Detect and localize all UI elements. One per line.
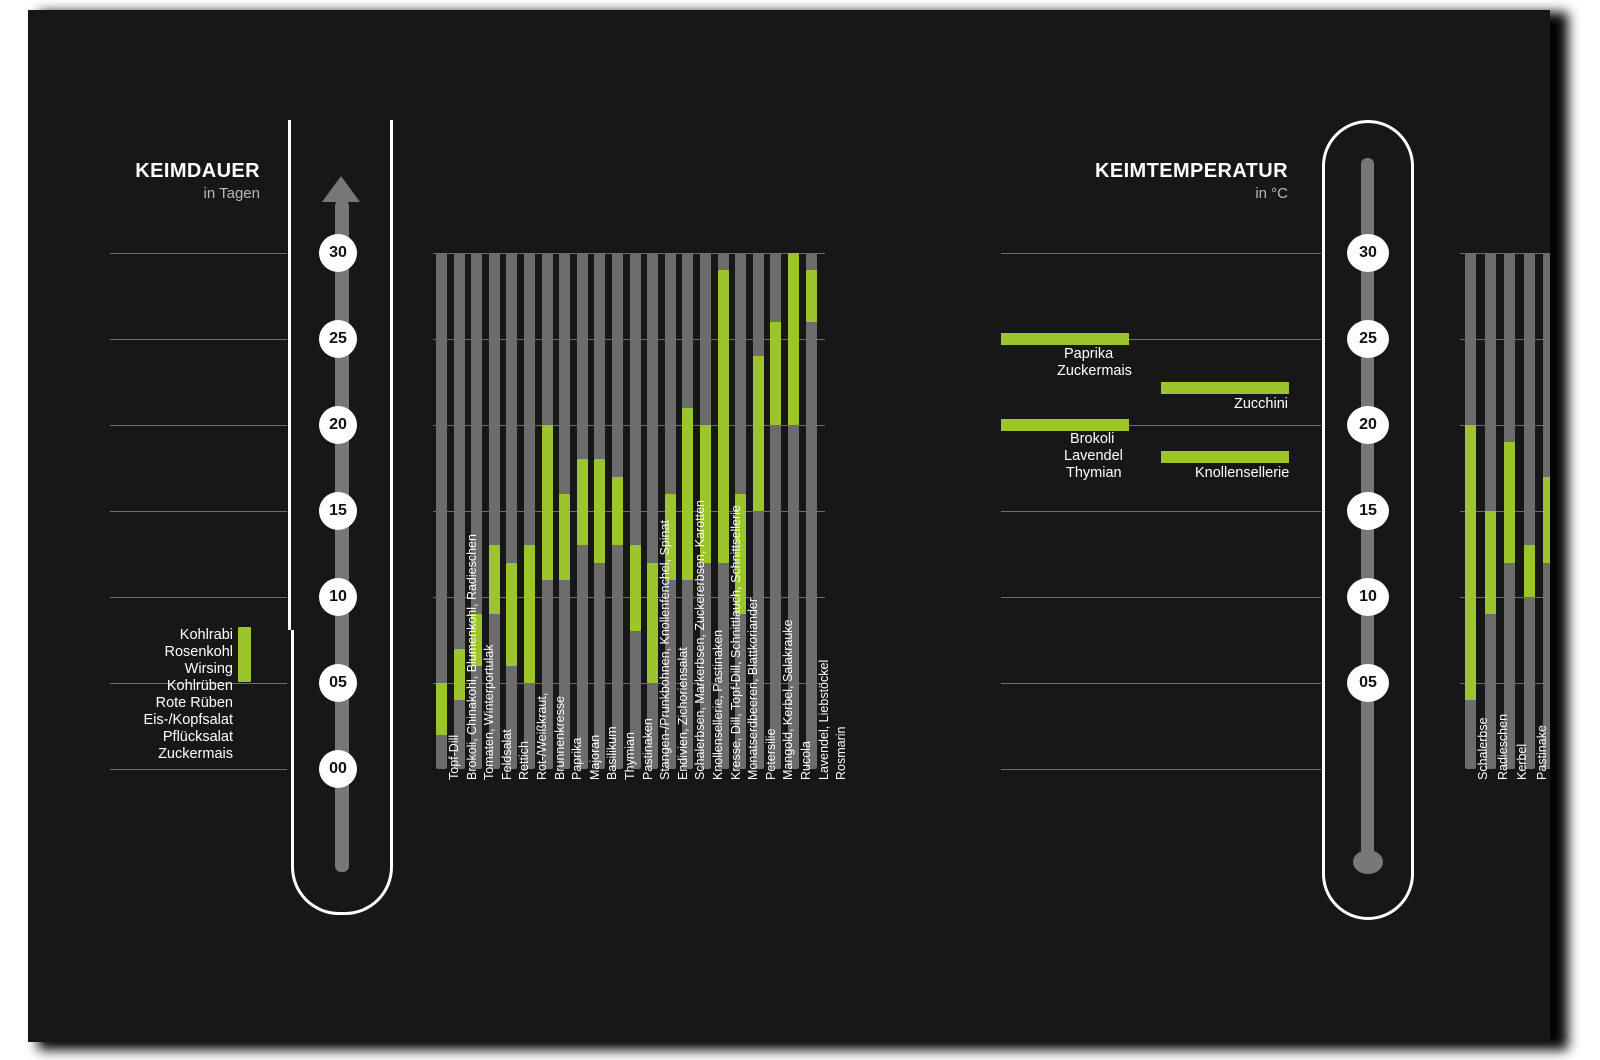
side-label-kohlrabi: Kohlrabi	[28, 627, 233, 643]
keimtemperatur-subtitle: in °C	[958, 185, 1288, 202]
thermo1-wall-left	[288, 120, 291, 630]
side-label-eis-kopfsalat: Eis-/Kopfsalat	[28, 712, 233, 728]
poster-panel: KEIMDAUER in Tagen Kohlrabi Rosenkohl Wi…	[28, 10, 1550, 1042]
tick-05-left: 05	[319, 664, 357, 702]
xaxis-label: Petersilie	[764, 729, 778, 780]
thermo1-arrow-icon	[322, 176, 360, 202]
bar-range-fill	[1465, 425, 1476, 700]
xaxis-label: Thymian	[623, 732, 637, 780]
xaxis-label: Rucola	[799, 741, 813, 780]
xaxis-label: Tomaten, Winterportulak	[482, 645, 496, 780]
tick-25-left: 25	[319, 320, 357, 358]
xaxis-label: Topf-Dill	[447, 735, 461, 780]
tick-05-right: 05	[1347, 664, 1389, 702]
keimtemperatur-title: KEIMTEMPERATUR	[958, 160, 1288, 183]
side-range-bar	[238, 627, 251, 682]
bar-range-fill	[1543, 477, 1550, 563]
temp-label-thymian: Thymian	[1066, 465, 1122, 481]
bar-range-fill	[770, 322, 781, 425]
xaxis-label: Basilikum	[605, 727, 619, 781]
bar-range-fill	[612, 477, 623, 546]
bar-range-fill	[647, 563, 658, 683]
bar-range-fill	[559, 494, 570, 580]
tick-10-left: 10	[319, 578, 357, 616]
bar-range-fill	[542, 425, 553, 580]
bar-range-fill	[594, 459, 605, 562]
temp-marker-paprika-zuckermais	[1001, 333, 1129, 345]
bar-range-fill	[753, 356, 764, 511]
xaxis-label: Brunnenkresse	[553, 696, 567, 780]
gridline-15-right	[1001, 511, 1321, 512]
keimdauer-title: KEIMDAUER	[28, 160, 260, 183]
bar-range-fill	[454, 649, 465, 701]
tick-15-left: 15	[319, 492, 357, 530]
tick-25-right: 25	[1347, 320, 1389, 358]
temp-label-zucchini: Zucchini	[1234, 396, 1288, 412]
bar-range-fill	[788, 253, 799, 425]
tick-30-left: 30	[319, 234, 357, 272]
gridline-00-right	[1001, 769, 1321, 770]
temp-label-paprika: Paprika	[1064, 346, 1113, 362]
bar-range-fill	[506, 563, 517, 666]
xaxis-label: Kerbel	[1515, 744, 1529, 780]
bar-range-fill	[630, 545, 641, 631]
xaxis-label: Rot-/Weißkraut,	[535, 693, 549, 780]
bar-range-fill	[682, 408, 693, 580]
gridline-30-left	[110, 253, 287, 254]
xaxis-label: Feldsalat	[500, 729, 514, 780]
bar-range-fill	[436, 683, 447, 735]
tick-30-right: 30	[1347, 234, 1389, 272]
bar-track	[1524, 253, 1535, 769]
temp-marker-zucchini	[1161, 382, 1289, 394]
xaxis-label: Schalerbse	[1476, 717, 1490, 780]
bar-range-fill	[1485, 511, 1496, 614]
xaxis-label: Mangold, Kerbel, Salakrauke	[781, 619, 795, 780]
bar-range-fill	[577, 459, 588, 545]
gridline-25-left	[110, 339, 287, 340]
temp-marker-brokoli-lavendel-thymian	[1001, 419, 1129, 431]
temp-label-brokoli: Brokoli	[1070, 431, 1114, 447]
temp-marker-knollensellerie	[1161, 451, 1289, 463]
bar-track	[806, 253, 817, 769]
tick-20-left: 20	[319, 406, 357, 444]
xaxis-label: Pastinake	[1535, 725, 1549, 780]
side-label-pfluecksalat: Pflücksalat	[28, 729, 233, 745]
xaxis-label: Rettich	[517, 741, 531, 780]
side-label-rote-rueben: Rote Rüben	[28, 695, 233, 711]
tick-20-right: 20	[1347, 406, 1389, 444]
xaxis-label: Lavendel, Liebstöckel	[817, 660, 831, 780]
xaxis-label: Pastinaken	[641, 718, 655, 780]
gridline-20-left	[110, 425, 287, 426]
xaxis-label: Endivien, Zichoriensalat	[676, 647, 690, 780]
gridline-10-right	[1001, 597, 1321, 598]
gridline-30-right	[1001, 253, 1321, 254]
keimdauer-subtitle: in Tagen	[28, 185, 260, 202]
temp-label-knollensellerie: Knollensellerie	[1195, 465, 1289, 481]
xaxis-label: Radieschen	[1496, 714, 1510, 780]
bar-track	[630, 253, 641, 769]
bar-track	[506, 253, 517, 769]
infographic-root: KEIMDAUER in Tagen Kohlrabi Rosenkohl Wi…	[0, 0, 1600, 1060]
thermo2-bulb	[1353, 850, 1383, 874]
xaxis-label: Paprika	[570, 738, 584, 780]
temp-label-zuckermais: Zuckermais	[1057, 363, 1132, 379]
side-label-rosenkohl: Rosenkohl	[28, 644, 233, 660]
gridline-15-left	[110, 511, 287, 512]
bar-track	[524, 253, 535, 769]
xaxis-label: Kresse, Dill, Topf-Dill, Schnittlauch, S…	[729, 505, 743, 780]
xaxis-label: Schalerbsen, Markerbsen, Zuckererbsen, K…	[693, 500, 707, 780]
gridline-05-right	[1001, 683, 1321, 684]
bar-range-fill	[489, 545, 500, 614]
xaxis-label: Brokoli, Chinakohl, Blumenkohl, Radiesch…	[465, 534, 479, 780]
xaxis-label: Majoran	[588, 735, 602, 780]
xaxis-label: Knollensellerie, Pastinaken	[711, 630, 725, 780]
temp-label-lavendel: Lavendel	[1064, 448, 1123, 464]
thermo1-wall-right	[390, 120, 393, 630]
side-label-wirsing: Wirsing	[28, 661, 233, 677]
tick-15-right: 15	[1347, 492, 1389, 530]
xaxis-label: Stangen-/Prunkbohnen, Knollenfenchel, Sp…	[658, 520, 672, 780]
side-label-zuckermais: Zuckermais	[28, 746, 233, 762]
bar-track	[647, 253, 658, 769]
xaxis-label: Monatserdbeeren, Blattkoriander	[746, 598, 760, 780]
xaxis-label: Rosmarin	[834, 727, 848, 781]
tick-10-right: 10	[1347, 578, 1389, 616]
bar-range-fill	[806, 270, 817, 322]
bar-range-fill	[524, 545, 535, 683]
bar-range-fill	[1504, 442, 1515, 562]
bar-range-fill	[1524, 545, 1535, 597]
gridline-10-left	[110, 597, 287, 598]
bar-range-fill	[718, 270, 729, 562]
tick-00-left: 00	[319, 750, 357, 788]
gridline-00-left	[110, 769, 287, 770]
side-label-kohlrueben: Kohlrüben	[28, 678, 233, 694]
